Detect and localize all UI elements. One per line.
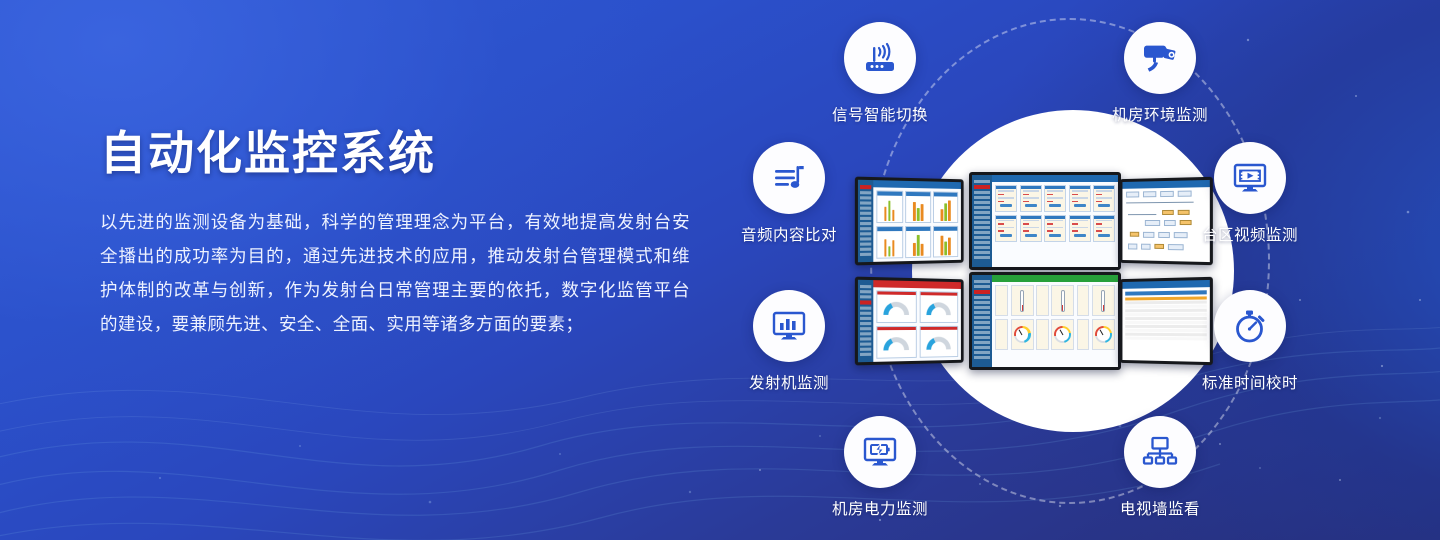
gauge-card xyxy=(919,326,958,358)
hero-description: 以先进的监测设备为基础，科学的管理理念为平台，有效地提高发射台安全播出的成功率为… xyxy=(100,205,690,341)
gauge-card xyxy=(876,290,917,323)
chart-card xyxy=(933,191,958,223)
data-card xyxy=(995,215,1017,242)
page-title: 自动化监控系统 xyxy=(100,128,700,179)
dial-gauge xyxy=(1051,319,1074,350)
meter-label xyxy=(1077,285,1090,316)
feature-label: 发射机监测 xyxy=(714,371,864,393)
screen-titlebar xyxy=(992,175,1118,182)
data-card xyxy=(1093,185,1115,212)
data-card xyxy=(1020,185,1042,212)
screen-sidebar xyxy=(972,275,992,367)
music-note-icon xyxy=(753,142,825,214)
monitor-screen-data-cards[interactable] xyxy=(969,172,1121,270)
feature-label: 音频内容比对 xyxy=(714,223,864,245)
meter-label xyxy=(1077,319,1090,350)
thermometer xyxy=(1092,285,1115,316)
cctv-camera-icon xyxy=(1124,22,1196,94)
bar-chart-monitor-icon xyxy=(753,290,825,362)
gauge-card xyxy=(876,326,917,359)
gauge-grid xyxy=(873,287,961,362)
chart-grid xyxy=(873,187,961,262)
chart-card xyxy=(905,226,931,258)
feature-node-video-monitor[interactable]: 台区视频监测 xyxy=(1175,142,1325,245)
screen-sidebar xyxy=(972,175,992,267)
feature-node-signal-switch[interactable]: 信号智能切换 xyxy=(805,22,955,125)
data-card xyxy=(1044,215,1066,242)
video-player-monitor-icon xyxy=(1214,142,1286,214)
meter-label xyxy=(1036,319,1049,350)
chart-card xyxy=(905,191,931,223)
hero-text-block: 自动化监控系统 以先进的监测设备为基础，科学的管理理念为平台，有效地提高发射台安… xyxy=(100,128,700,341)
feature-diagram: 信号智能切换 音频内容比对 发射 xyxy=(700,0,1440,540)
meter-label xyxy=(995,319,1008,350)
data-card xyxy=(995,185,1017,212)
feature-node-power-monitor[interactable]: 机房电力监测 xyxy=(805,416,955,519)
data-card xyxy=(1044,185,1066,212)
data-card xyxy=(1020,215,1042,242)
feature-label: 台区视频监测 xyxy=(1175,223,1325,245)
meter-label xyxy=(1036,285,1049,316)
feature-node-environment-monitor[interactable]: 机房环境监测 xyxy=(1085,22,1235,125)
monitor-screen-meters[interactable] xyxy=(969,272,1121,370)
stopwatch-icon xyxy=(1214,290,1286,362)
network-tree-icon xyxy=(1124,416,1196,488)
card-grid xyxy=(992,182,1118,267)
monitor-screen-bar-charts[interactable] xyxy=(855,177,964,266)
feature-node-transmitter-monitor[interactable]: 发射机监测 xyxy=(714,290,864,393)
feature-node-tv-wall[interactable]: 电视墙监看 xyxy=(1085,416,1235,519)
chart-card xyxy=(933,226,958,258)
battery-power-monitor-icon xyxy=(844,416,916,488)
chart-card xyxy=(876,190,903,223)
thermometer xyxy=(1011,285,1034,316)
screen-titlebar xyxy=(992,275,1118,282)
router-icon xyxy=(844,22,916,94)
feature-label: 电视墙监看 xyxy=(1085,497,1235,519)
data-card xyxy=(1069,185,1091,212)
data-card xyxy=(1069,215,1091,242)
gauge-card xyxy=(919,291,958,323)
feature-label: 信号智能切换 xyxy=(805,103,955,125)
meter-label xyxy=(995,285,1008,316)
chart-card xyxy=(876,226,903,259)
meter-grid xyxy=(992,282,1118,367)
feature-label: 标准时间校时 xyxy=(1175,371,1325,393)
thermometer xyxy=(1051,285,1074,316)
dial-gauge xyxy=(1011,319,1034,350)
monitor-wall xyxy=(855,172,1213,372)
feature-label: 机房环境监测 xyxy=(1085,103,1235,125)
monitor-screen-gauges[interactable] xyxy=(855,277,964,366)
feature-label: 机房电力监测 xyxy=(805,497,955,519)
feature-node-time-sync[interactable]: 标准时间校时 xyxy=(1175,290,1325,393)
data-card xyxy=(1093,215,1115,242)
dial-gauge xyxy=(1092,319,1115,350)
feature-node-audio-compare[interactable]: 音频内容比对 xyxy=(714,142,864,245)
